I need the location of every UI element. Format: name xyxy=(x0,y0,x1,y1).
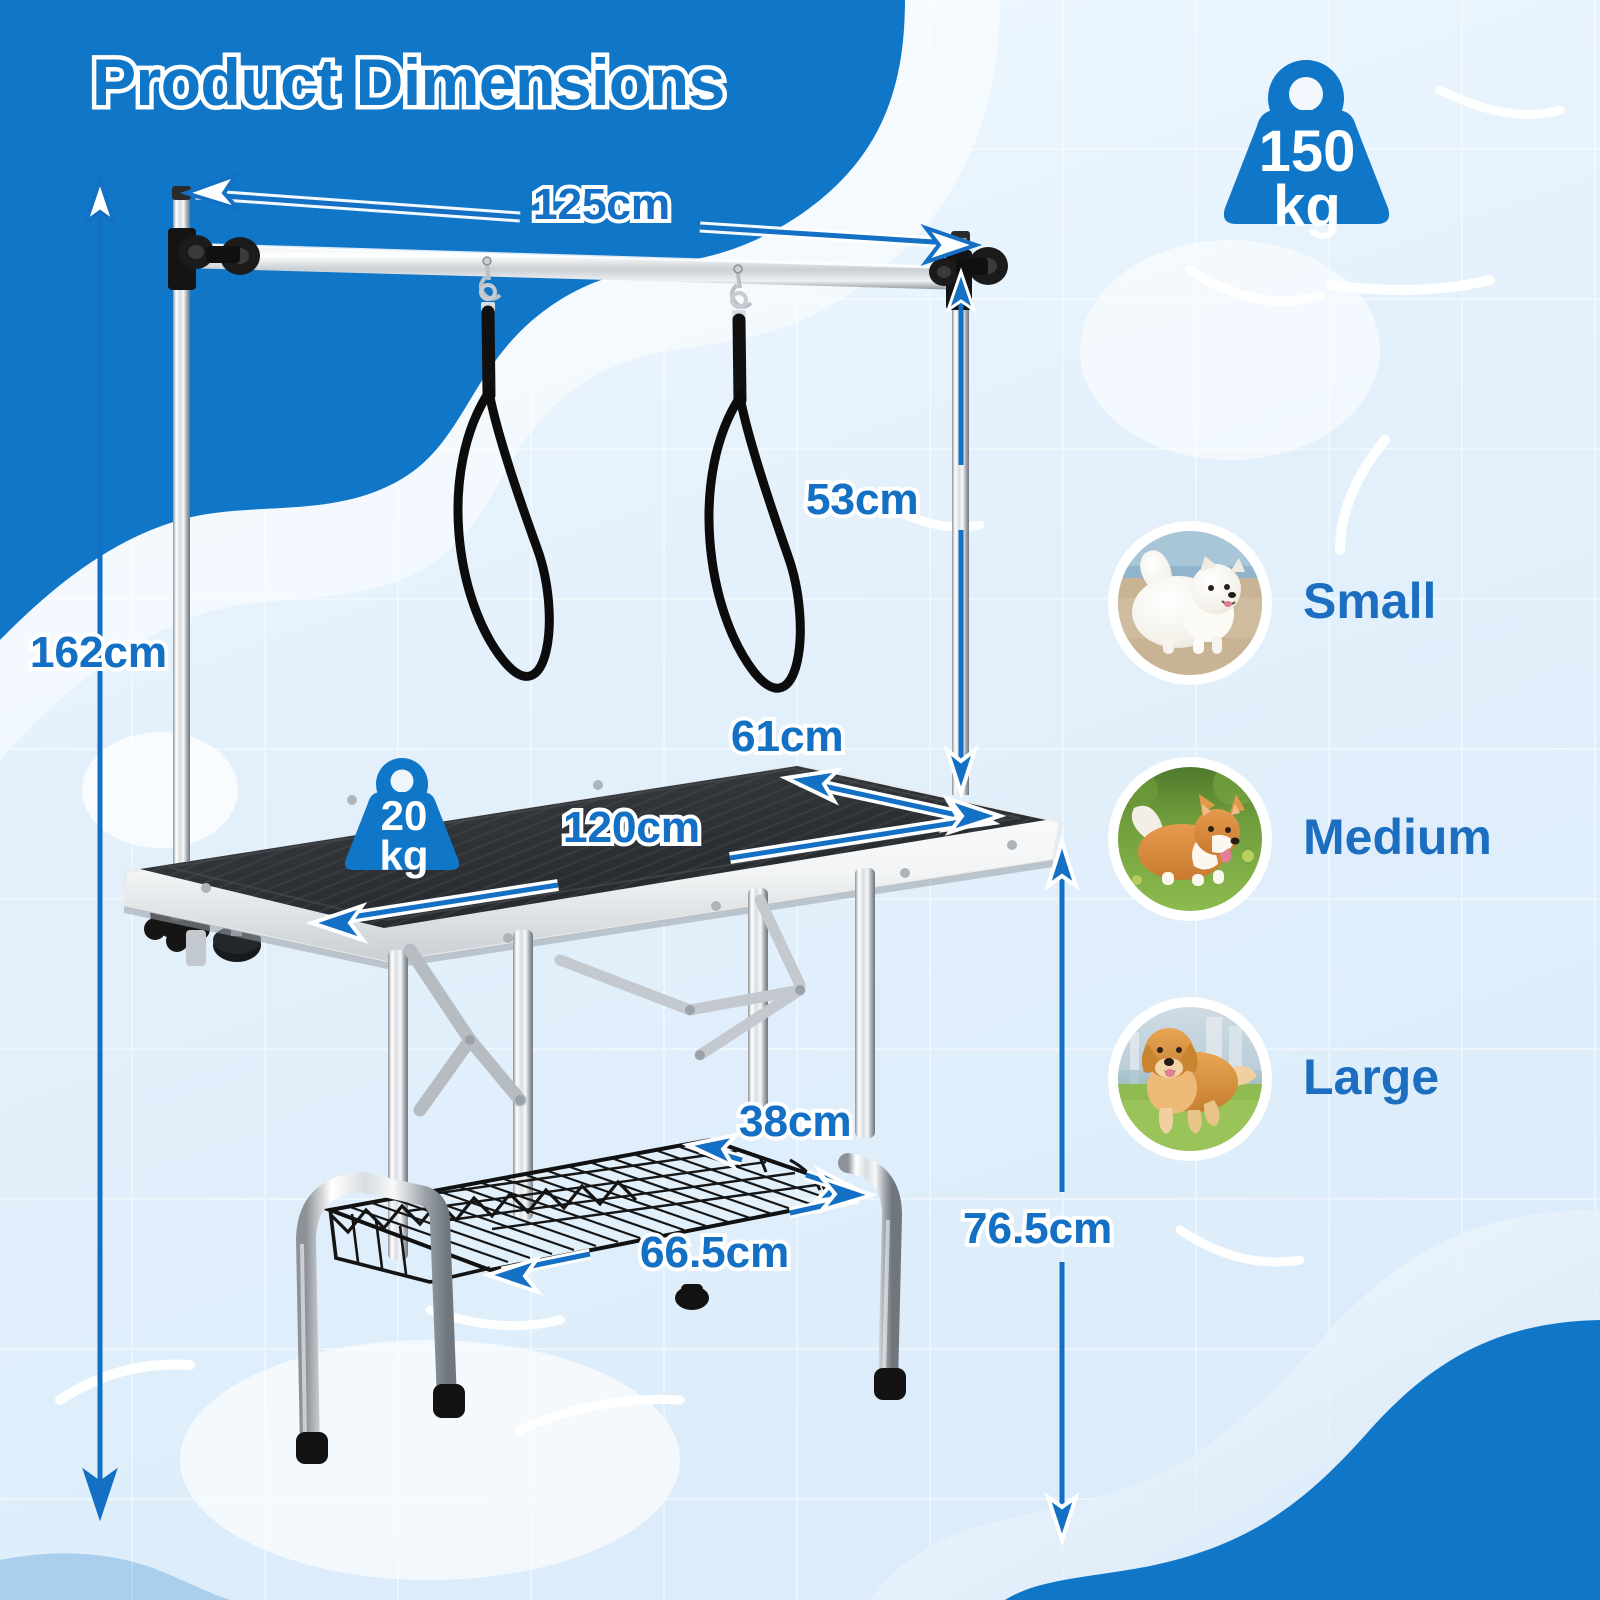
capacity-150-value: 150 kg xyxy=(1237,124,1377,234)
page-title: Product Dimensions xyxy=(92,44,725,120)
dog-size-label-large: Large xyxy=(1303,1048,1439,1106)
dim-120cm: 120cm xyxy=(563,803,700,853)
dog-size-label-medium: Medium xyxy=(1303,808,1492,866)
dim-162cm: 162cm xyxy=(30,628,167,678)
dim-125cm: 125cm xyxy=(533,180,670,230)
infographic-canvas: Product Dimensions Product Dimensions 15… xyxy=(0,0,1600,1600)
dog-photo-medium xyxy=(1108,757,1272,921)
dim-66-5cm: 66.5cm xyxy=(640,1228,789,1278)
dog-category-photos xyxy=(0,0,1600,1600)
dim-61cm: 61cm xyxy=(731,712,844,762)
capacity-20-value: 20 kg xyxy=(352,796,456,876)
dog-photo-large xyxy=(1108,997,1272,1161)
dog-size-label-small: Small xyxy=(1303,572,1436,630)
dim-53cm: 53cm xyxy=(806,475,919,525)
dog-photo-small xyxy=(1108,521,1272,685)
dim-38cm: 38cm xyxy=(739,1097,852,1147)
dim-76-5cm: 76.5cm xyxy=(963,1204,1112,1254)
